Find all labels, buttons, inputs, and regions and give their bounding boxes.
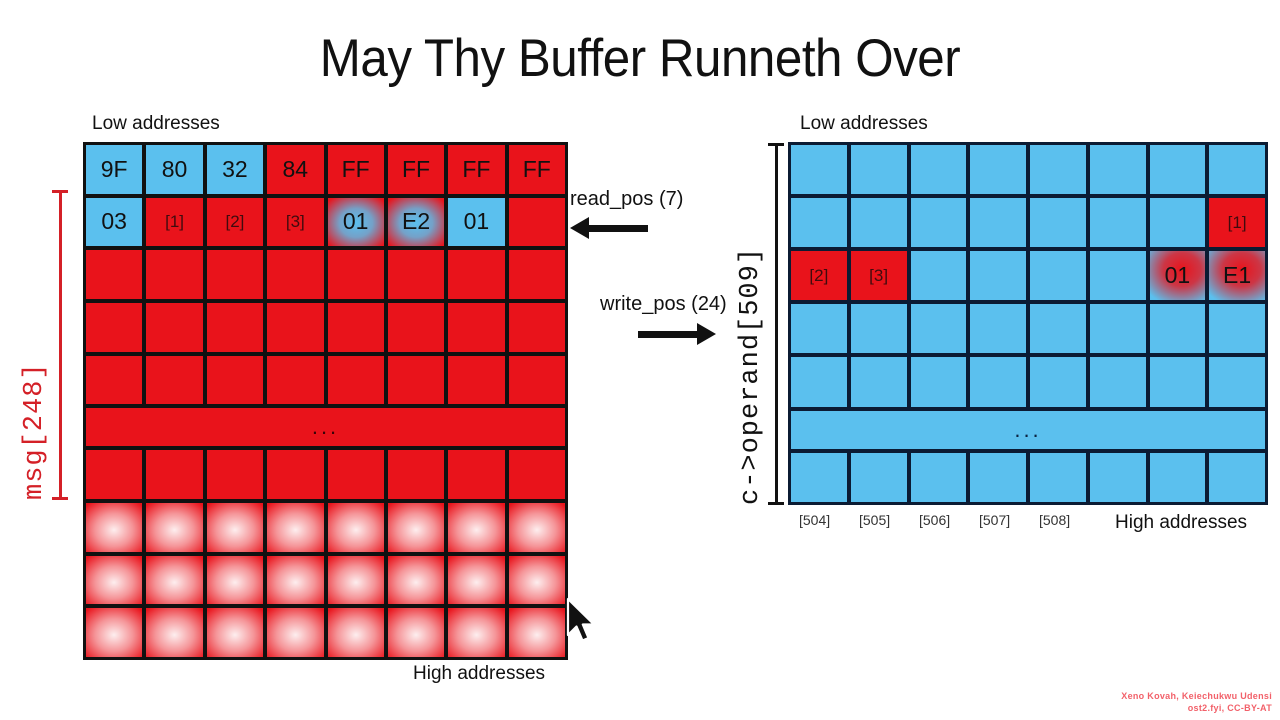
memory-cell	[267, 556, 323, 605]
cell-value-label: E2	[402, 208, 430, 235]
memory-cell	[911, 304, 967, 353]
memory-cell	[509, 608, 565, 657]
memory-cell	[86, 356, 142, 405]
memory-cell	[1030, 304, 1086, 353]
memory-cell	[1209, 357, 1265, 406]
memory-cell: 01	[1150, 251, 1206, 300]
cell-value-label: 03	[101, 208, 127, 235]
memory-cell: [1]	[1209, 198, 1265, 247]
memory-cell: 32	[207, 145, 263, 194]
memory-cell	[86, 608, 142, 657]
right-span-bracket	[768, 143, 784, 505]
cell-index-label: [3]	[869, 266, 888, 286]
write-pos-label: write_pos (24)	[600, 293, 727, 316]
memory-cell: 01	[328, 198, 384, 247]
cell-value-label: 9F	[101, 156, 128, 183]
address-tick-label: [508]	[1039, 512, 1070, 528]
memory-cell	[970, 145, 1026, 194]
memory-cell	[388, 608, 444, 657]
memory-cell	[207, 556, 263, 605]
memory-cell	[911, 198, 967, 247]
memory-cell	[1030, 145, 1086, 194]
cell-value-label: 01	[1165, 262, 1191, 289]
memory-cell	[1090, 145, 1146, 194]
arrow-head	[697, 323, 716, 345]
memory-cell	[388, 303, 444, 352]
bracket-stem	[775, 143, 778, 505]
bracket-cap-top	[768, 143, 784, 146]
memory-cell	[448, 503, 504, 552]
left-high-addresses-label: High addresses	[413, 663, 545, 685]
memory-cell	[448, 450, 504, 499]
memory-cell: [2]	[207, 198, 263, 247]
memory-cell	[86, 450, 142, 499]
memory-cell	[388, 503, 444, 552]
left-low-addresses-label: Low addresses	[92, 113, 220, 135]
memory-cell: 84	[267, 145, 323, 194]
grid-ellipsis-row: ...	[86, 408, 565, 446]
memory-cell	[448, 556, 504, 605]
memory-cell: 03	[86, 198, 142, 247]
memory-cell	[509, 556, 565, 605]
cell-index-label: [2]	[809, 266, 828, 286]
write-pos-arrow	[638, 328, 716, 338]
grid-ellipsis-row: ...	[791, 411, 1265, 449]
cell-value-label: FF	[523, 156, 551, 183]
memory-cell	[388, 250, 444, 299]
memory-cell	[911, 357, 967, 406]
memory-cell	[328, 450, 384, 499]
memory-cell	[509, 450, 565, 499]
msg-array-label: msg[248]	[20, 362, 50, 500]
memory-cell	[207, 450, 263, 499]
memory-cell	[509, 356, 565, 405]
memory-cell: 9F	[86, 145, 142, 194]
memory-cell	[388, 556, 444, 605]
cell-value-label: E1	[1223, 262, 1251, 289]
memory-cell	[146, 556, 202, 605]
memory-cell	[388, 356, 444, 405]
memory-cell	[1150, 357, 1206, 406]
read-pos-arrow	[570, 222, 648, 232]
slide-canvas: May Thy Buffer Runneth Over Low addresse…	[0, 0, 1280, 720]
memory-cell	[1150, 198, 1206, 247]
memory-cell	[267, 503, 323, 552]
memory-cell	[328, 556, 384, 605]
cell-value-label: FF	[462, 156, 490, 183]
bracket-cap-bottom	[768, 502, 784, 505]
memory-cell	[1030, 251, 1086, 300]
memory-cell	[1209, 453, 1265, 502]
cell-value-label: FF	[402, 156, 430, 183]
memory-cell: E1	[1209, 251, 1265, 300]
memory-cell	[911, 145, 967, 194]
memory-cell: FF	[388, 145, 444, 194]
credits-line-1: Xeno Kovah, Keiechukwu Udensi	[1121, 690, 1272, 702]
msg-buffer-grid: 9F803284FFFFFFFF03[1][2][3]01E201...	[83, 142, 568, 660]
address-tick-label: [505]	[859, 512, 890, 528]
memory-cell	[146, 250, 202, 299]
memory-cell	[1030, 453, 1086, 502]
cell-index-label: [1]	[1228, 213, 1247, 233]
memory-cell	[267, 303, 323, 352]
memory-cell: 80	[146, 145, 202, 194]
memory-cell	[851, 304, 907, 353]
memory-cell: [3]	[267, 198, 323, 247]
memory-cell	[448, 356, 504, 405]
memory-cell	[388, 450, 444, 499]
cell-index-label: [3]	[286, 212, 305, 232]
memory-cell	[791, 357, 847, 406]
memory-cell	[791, 198, 847, 247]
memory-cell: FF	[328, 145, 384, 194]
operand-buffer-grid: [1][2][3]01E1...	[788, 142, 1268, 505]
memory-cell	[1090, 304, 1146, 353]
cell-value-label: 01	[464, 208, 490, 235]
right-low-addresses-label: Low addresses	[800, 113, 928, 135]
memory-cell	[1150, 453, 1206, 502]
memory-cell	[509, 198, 565, 247]
memory-cell	[146, 608, 202, 657]
credits-block: Xeno Kovah, Keiechukwu Udensi ost2.fyi, …	[1121, 690, 1272, 714]
memory-cell	[1090, 453, 1146, 502]
memory-cell	[328, 356, 384, 405]
read-pos-label: read_pos (7)	[570, 188, 683, 211]
memory-cell	[509, 303, 565, 352]
cell-value-label: 80	[162, 156, 188, 183]
memory-cell	[851, 453, 907, 502]
memory-cell	[267, 250, 323, 299]
memory-cell	[448, 250, 504, 299]
memory-cell	[267, 608, 323, 657]
bracket-cap-bottom	[52, 497, 68, 500]
address-tick-label: [504]	[799, 512, 830, 528]
cell-index-label: [2]	[225, 212, 244, 232]
memory-cell	[207, 250, 263, 299]
memory-cell	[970, 357, 1026, 406]
memory-cell	[146, 503, 202, 552]
memory-cell	[970, 198, 1026, 247]
memory-cell	[448, 608, 504, 657]
memory-cell: [1]	[146, 198, 202, 247]
memory-cell	[1090, 357, 1146, 406]
page-title: May Thy Buffer Runneth Over	[45, 28, 1235, 90]
memory-cell	[328, 303, 384, 352]
cell-value-label: FF	[342, 156, 370, 183]
arrow-head	[570, 217, 589, 239]
memory-cell	[1150, 145, 1206, 194]
memory-cell	[207, 356, 263, 405]
memory-cell: [2]	[791, 251, 847, 300]
memory-cell	[207, 608, 263, 657]
memory-cell: FF	[509, 145, 565, 194]
memory-cell	[791, 145, 847, 194]
memory-cell	[1030, 198, 1086, 247]
memory-cell: [3]	[851, 251, 907, 300]
memory-cell: 01	[448, 198, 504, 247]
mouse-cursor-icon	[565, 597, 599, 645]
memory-cell	[1209, 145, 1265, 194]
arrow-shaft	[638, 331, 699, 338]
memory-cell	[1090, 251, 1146, 300]
memory-cell	[1090, 198, 1146, 247]
credits-line-2: ost2.fyi, CC-BY-AT	[1121, 702, 1272, 714]
memory-cell	[851, 145, 907, 194]
operand-array-label: c->operand[509]	[736, 247, 766, 505]
memory-cell	[328, 503, 384, 552]
memory-cell	[509, 250, 565, 299]
bracket-cap-top	[52, 190, 68, 193]
right-high-addresses-label: High addresses	[1115, 512, 1247, 534]
memory-cell	[86, 250, 142, 299]
memory-cell	[970, 453, 1026, 502]
memory-cell: FF	[448, 145, 504, 194]
memory-cell	[207, 503, 263, 552]
memory-cell	[86, 303, 142, 352]
memory-cell	[1209, 304, 1265, 353]
memory-cell	[328, 608, 384, 657]
left-span-bracket	[52, 190, 68, 500]
memory-cell	[851, 198, 907, 247]
memory-cell	[86, 556, 142, 605]
address-tick-label: [507]	[979, 512, 1010, 528]
memory-cell: E2	[388, 198, 444, 247]
memory-cell	[970, 304, 1026, 353]
memory-cell	[146, 356, 202, 405]
memory-cell	[146, 450, 202, 499]
memory-cell	[851, 357, 907, 406]
memory-cell	[970, 251, 1026, 300]
cell-value-label: 84	[283, 156, 309, 183]
memory-cell	[791, 453, 847, 502]
cell-value-label: 01	[343, 208, 369, 235]
cell-index-label: [1]	[165, 212, 184, 232]
memory-cell	[267, 450, 323, 499]
address-tick-label: [506]	[919, 512, 950, 528]
cell-value-label: 32	[222, 156, 248, 183]
memory-cell	[1030, 357, 1086, 406]
memory-cell	[207, 303, 263, 352]
memory-cell	[86, 503, 142, 552]
memory-cell	[509, 503, 565, 552]
memory-cell	[911, 453, 967, 502]
arrow-shaft	[587, 225, 648, 232]
memory-cell	[448, 303, 504, 352]
memory-cell	[911, 251, 967, 300]
memory-cell	[146, 303, 202, 352]
memory-cell	[328, 250, 384, 299]
memory-cell	[791, 304, 847, 353]
bracket-stem	[59, 190, 62, 500]
memory-cell	[1150, 304, 1206, 353]
memory-cell	[267, 356, 323, 405]
